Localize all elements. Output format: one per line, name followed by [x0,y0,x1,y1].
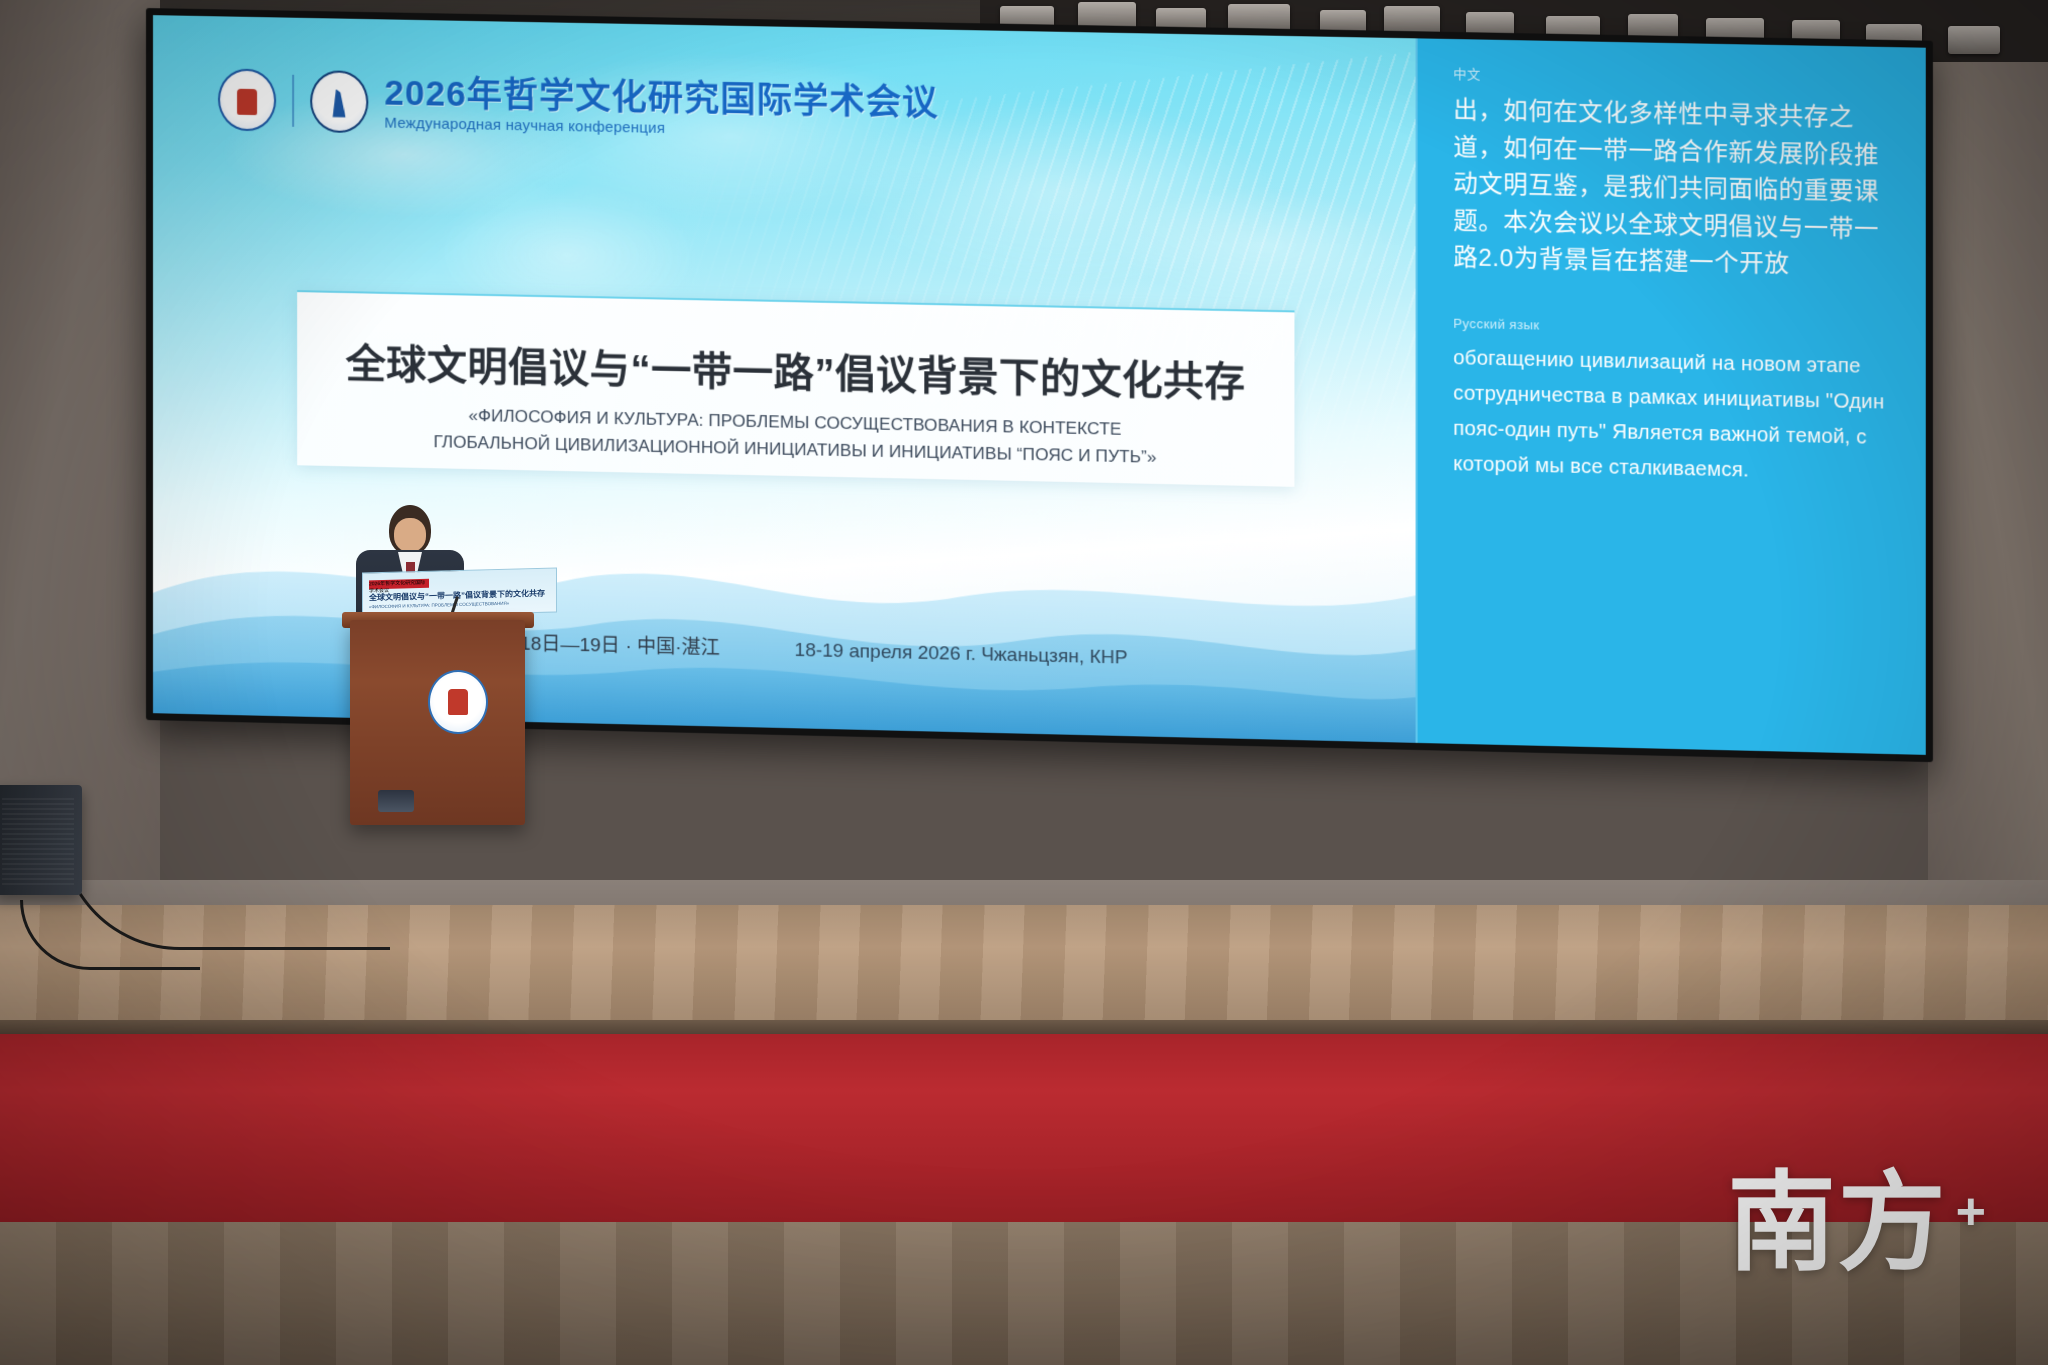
floor-monitor [378,790,414,812]
slide-main-title: 全球文明倡议与“一带一路”倡议背景下的文化共存 [297,330,1295,409]
logo-divider [292,75,294,127]
watermark-plus-icon: + [1956,1182,1986,1242]
loudspeaker-cabinet [0,785,82,895]
slide-main-area: 2026年哲学文化研究国际学术会议 Международная научная … [153,15,1416,743]
university-seal-right-icon [310,70,368,133]
slide-subtitle-ru: «ФИЛОСОФИЯ И КУЛЬТУРА: ПРОБЛЕМЫ СОСУЩЕСТ… [356,401,1234,473]
caption-russian-block: Русский язык обогащению цивилизаций на н… [1453,315,1895,491]
speaker-face [394,518,426,552]
conference-title-cn: 2026年哲学文化研究国际学术会议 [384,74,938,122]
watermark: 南方 + [1728,1172,1986,1275]
university-seal-left-icon [218,69,276,132]
caption-text-cn: 出，如何在文化多样性中寻求共存之道，如何在一带一路合作新发展阶段推动文明互鉴，是… [1453,93,1895,286]
watermark-text: 南方 [1728,1172,1948,1275]
conference-hall-scene: 2026年哲学文化研究国际学术会议 Международная научная … [0,0,2048,1365]
live-caption-panel: 中文 出，如何在文化多样性中寻求共存之道，如何在一带一路合作新发展阶段推动文明互… [1416,38,1926,755]
podium-banner: 2026年哲学文化研究国际学术会议 全球文明倡议与“一带一路”倡议背景下的文化共… [362,567,557,617]
caption-language-label-ru: Русский язык [1453,315,1895,339]
podium-banner-tag: 2026年哲学文化研究国际学术会议 [369,579,429,590]
podium-emblem-icon [428,670,488,734]
mountain-graphic [153,476,1416,743]
left-wall [0,0,160,905]
caption-language-label-cn: 中文 [1453,64,1895,91]
slide-title-card: 全球文明倡议与“一带一路”倡议背景下的文化共存 «ФИЛОСОФИЯ И КУЛ… [297,290,1295,486]
right-wall [1928,0,2048,905]
caption-text-ru: обогащению цивилизаций на новом этапе со… [1453,341,1895,492]
stage-lamp [1948,26,2000,54]
